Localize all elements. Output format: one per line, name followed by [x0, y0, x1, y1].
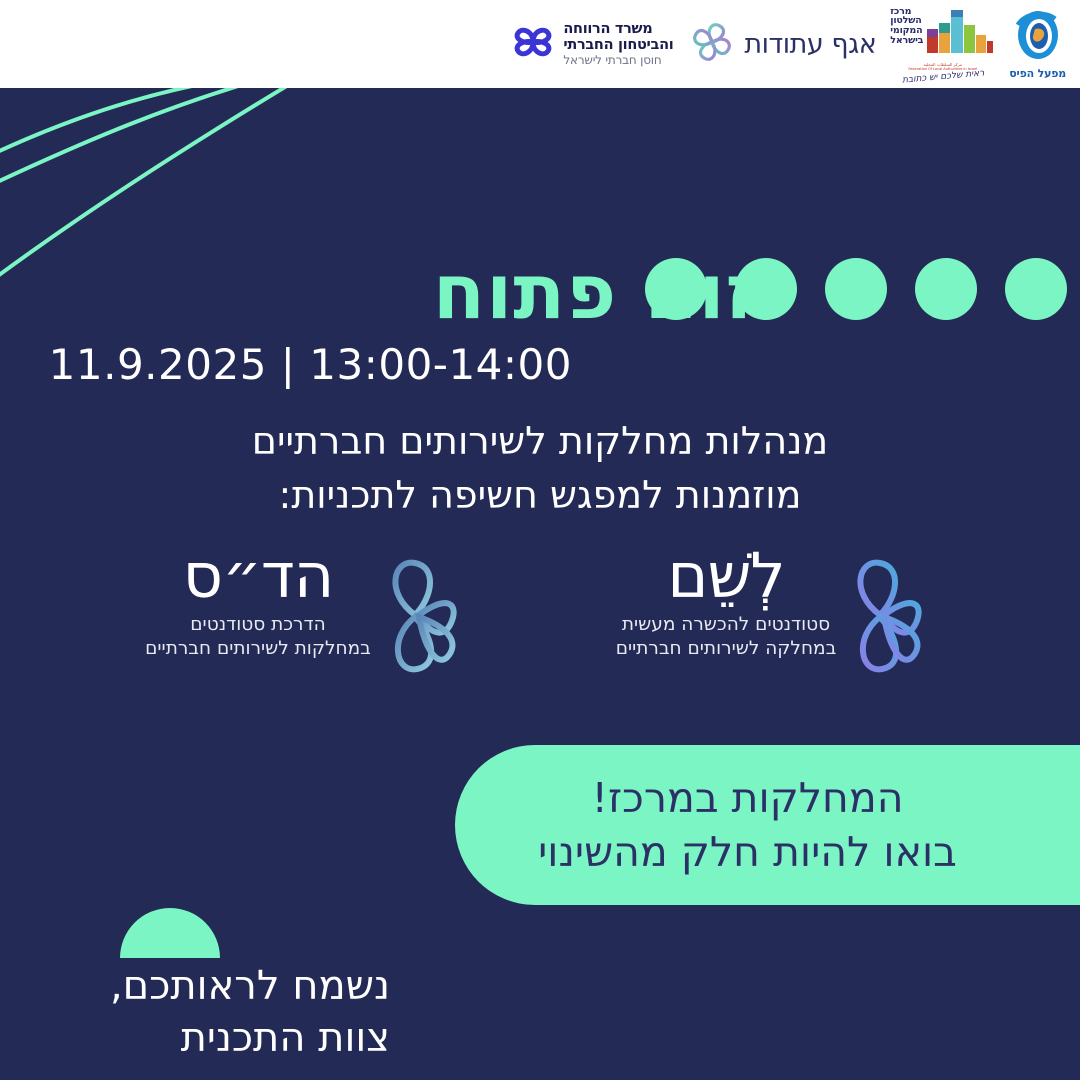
logo-agaf-atudot: אגף עתודות	[687, 17, 876, 71]
sponsor-logo-band: משרד הרווחה והביטחון החברתי חוסן חברתי ל…	[0, 0, 1080, 88]
callout-line-1: המחלקות במרכז!	[455, 771, 1080, 825]
logo-local-government-center: מרכז השלטון המקומי בישראל	[890, 7, 995, 82]
agaf-atudot-label: אגף עתודות	[744, 29, 876, 60]
decorative-semicircle	[120, 908, 220, 958]
page-title: זום פתוח	[433, 254, 757, 330]
program-hadas-name: הד״ס	[183, 545, 334, 607]
hadas-sub-line-2: במחלקות לשירותים חברתיים	[145, 638, 371, 659]
mslm-line-4: בישראל	[890, 36, 923, 46]
poster-canvas: משרד הרווחה והביטחון החברתי חוסן חברתי ל…	[0, 0, 1080, 1080]
callout-banner: המחלקות במרכז! בואו להיות חלק מהשינוי	[455, 745, 1080, 905]
leshem-sub-line-1: סטודנטים להכשרה מעשית	[622, 614, 830, 635]
program-hadas-texts: הד״ס הדרכת סטודנטים במחלקות לשירותים חבר…	[145, 545, 371, 661]
program-leshem: לְשֵׁם סטודנטים להכשרה מעשית במחלקה לשיר…	[564, 545, 984, 689]
four-hearts-clover-icon	[687, 17, 737, 71]
program-leshem-name: לְשֵׁם	[667, 545, 784, 607]
mslm-name-text: מרכז השלטון המקומי בישראל	[890, 7, 923, 47]
decorative-dot	[915, 258, 977, 320]
signoff-line-2: צוות התכנית	[20, 1012, 390, 1064]
invitation-body: מנהלות מחלקות לשירותים חברתיים מוזמנות ל…	[120, 415, 960, 523]
program-hadas: הד״ס הדרכת סטודנטים במחלקות לשירותים חבר…	[96, 545, 516, 689]
program-hadas-subtitle: הדרכת סטודנטים במחלקות לשירותים חברתיים	[145, 613, 371, 661]
payis-swirl-icon	[1011, 9, 1065, 65]
decorative-dot	[825, 258, 887, 320]
signoff-text: נשמח לראותכם, צוות התכנית	[20, 960, 390, 1064]
decorative-dot	[1005, 258, 1067, 320]
leshem-hearts-mark-icon	[840, 545, 932, 689]
interlocking-hearts-icon	[510, 19, 556, 69]
callout-line-2: בואו להיות חלק מהשינוי	[455, 825, 1080, 879]
payis-label: מפעל הפיס	[1009, 67, 1066, 80]
logo-ministry-of-welfare: משרד הרווחה והביטחון החברתי חוסן חברתי ל…	[510, 19, 673, 69]
ministry-name-text: משרד הרווחה והביטחון החברתי חוסן חברתי ל…	[563, 21, 673, 68]
hadas-hearts-mark-icon	[375, 545, 467, 689]
invitation-line-1: מנהלות מחלקות לשירותים חברתיים	[120, 415, 960, 469]
invitation-line-2: מוזמנות למפגש חשיפה לתכניות:	[120, 469, 960, 523]
signoff-line-1: נשמח לראותכם,	[20, 960, 390, 1012]
event-datetime: 11.9.2025 | 13:00-14:00	[49, 340, 572, 389]
program-leshem-subtitle: סטודנטים להכשרה מעשית במחלקה לשירותים חב…	[616, 613, 837, 661]
leshem-sub-line-2: במחלקה לשירותים חברתיים	[616, 638, 837, 659]
buildings-blocks-icon	[925, 7, 995, 61]
program-leshem-texts: לְשֵׁם סטודנטים להכשרה מעשית במחלקה לשיר…	[616, 545, 837, 661]
ministry-tagline: חוסן חברתי לישראל	[563, 53, 661, 67]
hadas-sub-line-1: הדרכת סטודנטים	[190, 614, 325, 635]
ministry-line-2: והביטחון החברתי	[563, 37, 673, 53]
decorative-curves	[0, 88, 330, 292]
logo-mifal-hapayis: מפעל הפיס	[1009, 9, 1066, 80]
program-logos-row: הד״ס הדרכת סטודנטים במחלקות לשירותים חבר…	[0, 545, 1080, 705]
ministry-line-1: משרד הרווחה	[563, 21, 652, 37]
